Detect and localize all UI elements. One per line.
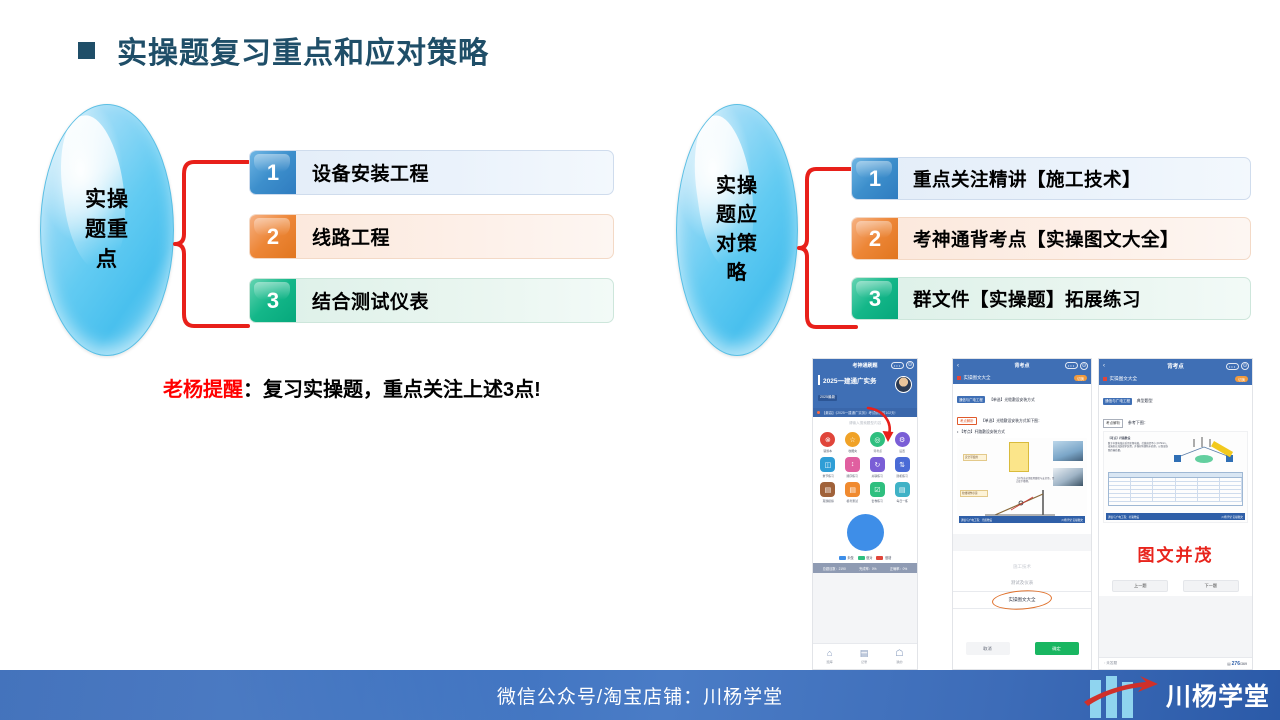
doc-title: 【考点】杆路敷设: [1108, 436, 1168, 440]
figure-note: 上杆作业必须使用脚扣与安全带，禁止徒手攀爬。: [1015, 476, 1057, 484]
chevron-left-icon[interactable]: ‹: [1103, 363, 1105, 369]
section-bar[interactable]: 实操图文大全 切换: [953, 372, 1091, 384]
course-banner: 2025一建通广实务 2025最新: [813, 371, 917, 408]
item-label: 重点关注精讲【施工技术】: [898, 166, 1141, 192]
legend-entry: 做对: [858, 555, 873, 560]
notice-dot-icon: [817, 411, 820, 414]
brand-name: 川杨学堂: [1166, 677, 1270, 713]
reminder-rest: ：复习实操题，重点关注上述3点!: [243, 379, 541, 401]
counter-current: 276: [1232, 661, 1240, 667]
figure-photo: [1053, 468, 1083, 486]
question-counter[interactable]: ▤ 276/369: [1227, 661, 1247, 667]
home-icon: ⌂: [827, 649, 832, 658]
red-square-icon: [1103, 377, 1107, 381]
legend-label: 做错: [885, 555, 891, 560]
avatar[interactable]: [895, 376, 912, 393]
tag-row-1: 通信与广电工程 典型题型: [1103, 389, 1248, 407]
legend-label: 未做: [847, 555, 853, 560]
picker-option[interactable]: 测试及仪表: [953, 575, 1091, 591]
tile-chapter-practice[interactable]: ◫ 章节练习: [817, 457, 839, 478]
yellow-table-graphic: [1009, 442, 1029, 472]
right-curly-brace-icon: [796, 165, 858, 331]
legend-swatch: [876, 556, 883, 560]
item-number-badge: 2: [852, 218, 898, 259]
more-icon[interactable]: •••: [1226, 363, 1239, 370]
switch-button[interactable]: 切换: [1074, 375, 1087, 381]
list-item[interactable]: 3 群文件【实操题】拓展练习: [851, 277, 1251, 320]
tag-row-2: 考点解析 【单选】光缆敷设安装方式如下图：: [957, 409, 1087, 427]
switch-button[interactable]: 切换: [1235, 376, 1248, 382]
question-line-2: 【单选】光缆敷设安装方式如下图：: [981, 419, 1042, 423]
tile-errors[interactable]: ⊗ 错题本: [817, 432, 839, 453]
picker-option[interactable]: 施工技术: [953, 559, 1091, 575]
section-title: 实操图文大全: [964, 375, 991, 381]
cancel-button[interactable]: 取消: [966, 642, 1010, 655]
item-number-badge: 1: [250, 151, 296, 194]
nav-item-question-bank[interactable]: ⌂ 题库: [827, 649, 833, 664]
tile-label: 收藏夹: [848, 448, 857, 453]
list-item[interactable]: 3 结合测试仪表: [249, 278, 614, 323]
legend-entry: 未做: [839, 555, 854, 560]
question-line-2: 参考下图：: [1128, 420, 1148, 425]
question-line-1: 典型题型: [1137, 398, 1153, 403]
course-badge: 2025最新: [818, 395, 837, 401]
phone-screenshot-memorize-picker: ‹ 背考点 ••• ⊙ 实操图文大全 切换 通信与广电工程 【单选】光缆敷设安装…: [952, 358, 1092, 670]
target-circle-icon[interactable]: ⊙: [1241, 362, 1249, 370]
confirm-button[interactable]: 确定: [1035, 642, 1079, 655]
more-icon[interactable]: •••: [1065, 362, 1078, 369]
app-header-title: 背考点: [1167, 362, 1184, 370]
analysis-tag: 考点解析: [957, 417, 977, 425]
next-question-button[interactable]: 下一题: [1183, 580, 1239, 592]
question-status-bar: ◦ 未答题 ▤ 276/369: [1099, 657, 1252, 669]
right-ellipse-shape: 实操题应对策略: [676, 104, 798, 356]
more-icon[interactable]: •••: [891, 362, 904, 369]
tile-grid: ⊗ 错题本 ☆ 收藏夹 ◎ 背考点 ⚙ 设置 ◫ 章节练习 ↕ 顺序练习: [813, 429, 917, 508]
reminder-text: 老杨提醒：复习实操题，重点关注上述3点!: [163, 373, 541, 402]
question-body: 通信与广电工程 【单选】光缆敷设安装方式 考点解析 【单选】光缆敷设安装方式如下…: [953, 384, 1091, 534]
page-title-text: 实操题复习重点和应对策略: [117, 28, 489, 72]
chevron-left-icon[interactable]: ‹: [957, 363, 959, 369]
user-icon: ☖: [895, 649, 903, 658]
page-title: 实操题复习重点和应对策略: [78, 28, 489, 72]
notice-bar[interactable]: 【最高】《2025一建通广实务》考试倒计时102天!: [813, 408, 917, 417]
check-icon: ☑: [870, 482, 885, 497]
nav-label: 我的: [896, 659, 902, 664]
footer-text: 微信公众号/淘宝店铺：川杨学堂: [497, 682, 783, 709]
category-tag: 通信与广电工程: [1103, 398, 1132, 405]
tile-label: 每日一练: [896, 498, 907, 503]
right-ellipse-label: 实操题应对策略: [691, 172, 782, 288]
updown-icon: ↕: [845, 457, 860, 472]
prev-question-button[interactable]: 上一题: [1112, 580, 1168, 592]
doc-text: 【考点】杆路敷设 数字中继电缆应采用全塑电缆，芯线直径不小于0.5mm，成端处应…: [1108, 436, 1168, 453]
item-label: 考神通背考点【实操图文大全】: [898, 226, 1179, 252]
item-label: 群文件【实操题】拓展练习: [898, 286, 1141, 312]
tile-favorites[interactable]: ☆ 收藏夹: [842, 432, 864, 453]
item-label: 线路工程: [296, 223, 390, 250]
caption-left: 通信与广电工程：光缆敷设: [961, 518, 992, 522]
tag-row-2: 考点解析 参考下图：: [1103, 411, 1248, 429]
bullet-line: • 【考点】杆路敷设安装方式: [957, 430, 1087, 435]
chuanyang-logo-icon: [1082, 672, 1160, 718]
picker-option-selected[interactable]: 实操图文大全: [953, 591, 1091, 609]
right-items-list: 1 重点关注精讲【施工技术】 2 考神通背考点【实操图文大全】 3 群文件【实操…: [851, 157, 1251, 320]
tile-label: 章节练习: [822, 473, 833, 478]
status-badge: ◦ 未答题: [1104, 661, 1117, 666]
app-header-title: 背考点: [1014, 362, 1029, 369]
section-bar[interactable]: 实操图文大全 切换: [1099, 373, 1252, 385]
list-item[interactable]: 2 线路工程: [249, 214, 614, 259]
nav-item-records[interactable]: ▤ 记录: [860, 649, 869, 664]
caption-left: 通信与广电工程：杆路敷设: [1108, 515, 1139, 519]
paper-icon: ▤: [820, 482, 835, 497]
search-input[interactable]: 请输入搜索题型内容: [813, 417, 917, 429]
tile-label: 套卷练习: [872, 498, 883, 503]
caption-right: 川杨学堂 实操图文: [1062, 518, 1083, 522]
tile-mock-test[interactable]: ▤ 模考测试: [842, 482, 864, 503]
header-capsule-controls[interactable]: ••• ⊙: [1226, 362, 1249, 370]
tile-label: 设置: [899, 448, 905, 453]
question-body: 通信与广电工程 典型题型 考点解析 参考下图： 【考点】杆路敷设 数字中继电缆应…: [1099, 385, 1252, 527]
doc-paragraph: 数字中继电缆应采用全塑电缆，芯线直径不小于0.5mm，成端处应加装保护装置，并做…: [1108, 442, 1168, 452]
tile-label: 关联练习: [872, 473, 883, 478]
tile-label: 模考测试: [847, 498, 858, 503]
book-icon: ◫: [820, 457, 835, 472]
picker-actions: 取消 确定: [953, 642, 1091, 655]
brand-logo: 川杨学堂: [1082, 672, 1270, 718]
question-line-1: 【单选】光缆敷设安装方式: [989, 398, 1035, 402]
cross-circle-icon: ⊗: [820, 432, 835, 447]
records-icon: ▤: [860, 649, 869, 658]
chart-legend: 未做 做对 做错: [839, 555, 892, 560]
category-tag: 通信与广电工程: [957, 396, 985, 403]
left-ellipse-shape: 实操题重点: [40, 104, 174, 356]
tile-memorize[interactable]: ◎ 背考点: [867, 432, 889, 453]
tile-label: 顺序练习: [847, 473, 858, 478]
header-capsule-controls[interactable]: ••• ⊙: [1065, 362, 1088, 370]
tile-random-practice[interactable]: ⇅ 随机练习: [891, 457, 913, 478]
tile-label: 真题模拟: [822, 498, 833, 503]
refresh-icon: ↻: [870, 457, 885, 472]
header-capsule-controls[interactable]: ••• ⊙: [891, 361, 914, 369]
tile-paper-practice[interactable]: ☑ 套卷练习: [867, 482, 889, 503]
legend-label: 做对: [866, 555, 872, 560]
app-header: ‹ 背考点 ••• ⊙: [1099, 359, 1252, 373]
nav-label: 题库: [827, 659, 833, 664]
tile-label: 背考点: [873, 448, 882, 453]
red-square-icon: [957, 376, 961, 380]
reminder-highlight: 老杨提醒: [163, 379, 243, 401]
figure-note: 安全带使用: [963, 454, 987, 461]
item-label: 结合测试仪表: [296, 287, 429, 314]
donut-slice: [847, 514, 884, 551]
option-picker-dialog: 施工技术 测试及仪表 实操图文大全 取消 确定: [953, 551, 1091, 669]
legend-swatch: [858, 556, 865, 560]
app-header: 考神通刷题 ••• ⊙: [813, 359, 917, 371]
phone-screenshot-memorize-detail: ‹ 背考点 ••• ⊙ 实操图文大全 切换 通信与广电工程 典型题型 考点解析 …: [1098, 358, 1253, 670]
square-bullet-icon: [78, 42, 95, 59]
notice-text: 【最高】《2025一建通广实务》考试倒计时102天!: [822, 410, 895, 415]
analysis-tag: 考点解析: [1103, 419, 1123, 427]
tile-daily-practice[interactable]: ▤ 每日一练: [891, 482, 913, 503]
target-icon: ◎: [870, 432, 885, 447]
stats-bar: 总题目数：2190 完成率：0% 正确率：0%: [813, 563, 917, 573]
counter-total: /369: [1240, 662, 1247, 666]
target-circle-icon[interactable]: ⊙: [906, 361, 914, 369]
pole-diagram-icon: [981, 488, 1059, 518]
app-header: ‹ 背考点 ••• ⊙: [953, 359, 1091, 372]
technical-figure: 安全带使用 上杆作业必须使用脚扣与安全带，禁止徒手攀爬。 拉线制作示意 通信与广…: [957, 438, 1087, 524]
orange-ellipse-annotation-icon: [991, 588, 1052, 611]
legend-entry: 做错: [876, 555, 891, 560]
bullet-line-text: 【考点】杆路敷设安装方式: [959, 430, 1005, 434]
list-item[interactable]: 1 设备安装工程: [249, 150, 614, 195]
tile-related-practice[interactable]: ↻ 关联练习: [867, 457, 889, 478]
tag-row-1: 通信与广电工程 【单选】光缆敷设安装方式: [957, 388, 1087, 406]
legend-swatch: [839, 556, 846, 560]
document-figure: 【考点】杆路敷设 数字中继电缆应采用全塑电缆，芯线直径不小于0.5mm，成端处应…: [1103, 431, 1248, 523]
figure-caption-bar: 通信与广电工程：光缆敷设 川杨学堂 实操图文: [959, 516, 1085, 523]
table-row: [1109, 498, 1242, 502]
shuffle-icon: ⇅: [895, 457, 910, 472]
app-header-title: 考神通刷题: [852, 362, 877, 369]
left-ellipse-label: 实操题重点: [57, 185, 157, 274]
left-items-list: 1 设备安装工程 2 线路工程 3 结合测试仪表: [249, 150, 614, 323]
phone-screenshot-app-home: 考神通刷题 ••• ⊙ 2025一建通广实务 2025最新 【最高】《2025一…: [812, 358, 918, 670]
stat-total: 总题目数：2190: [823, 566, 846, 571]
stat-accuracy: 正确率：0%: [890, 566, 907, 571]
tile-label: 随机练习: [896, 473, 907, 478]
item-number-badge: 3: [852, 278, 898, 319]
figure-caption-bar: 通信与广电工程：杆路敷设 川杨学堂 实操图文: [1106, 513, 1245, 520]
item-label: 设备安装工程: [296, 159, 429, 186]
nav-label: 记录: [861, 659, 867, 664]
network-diagram-icon: [1164, 435, 1244, 469]
tile-label: 错题本: [824, 448, 833, 453]
target-circle-icon[interactable]: ⊙: [1080, 362, 1088, 370]
caption-right: 川杨学堂 实操图文: [1222, 515, 1243, 519]
slide-root: 实操题复习重点和应对策略 实操题重点 1 设备安装工程 2 线路工程 3 结合测…: [0, 0, 1280, 720]
item-number-badge: 2: [250, 215, 296, 258]
section-title: 实操图文大全: [1110, 376, 1138, 382]
doc-icon: ▤: [845, 482, 860, 497]
gear-icon: ⚙: [895, 432, 910, 447]
figure-photo: [1053, 441, 1083, 461]
hero-text: 图文并茂: [1099, 527, 1252, 576]
left-curly-brace-icon: [172, 158, 250, 330]
progress-donut-chart: 未做 做对 做错: [813, 508, 917, 563]
list-icon: ▤: [895, 482, 910, 497]
footer-bar: 微信公众号/淘宝店铺：川杨学堂 川杨学堂: [0, 670, 1280, 720]
star-icon: ☆: [845, 432, 860, 447]
stat-completion: 完成率：0%: [859, 566, 876, 571]
item-number-badge: 1: [852, 158, 898, 199]
list-item[interactable]: 2 考神通背考点【实操图文大全】: [851, 217, 1251, 260]
tile-sequential-practice[interactable]: ↕ 顺序练习: [842, 457, 864, 478]
data-table: [1108, 472, 1243, 506]
tile-real-exam[interactable]: ▤ 真题模拟: [817, 482, 839, 503]
nav-item-profile[interactable]: ☖ 我的: [895, 649, 903, 664]
pagination-controls: 上一题 下一题: [1099, 576, 1252, 596]
tile-settings[interactable]: ⚙ 设置: [891, 432, 913, 453]
status-text: 未答题: [1106, 661, 1117, 665]
bottom-nav: ⌂ 题库 ▤ 记录 ☖ 我的: [813, 643, 917, 669]
item-number-badge: 3: [250, 279, 296, 322]
list-item[interactable]: 1 重点关注精讲【施工技术】: [851, 157, 1251, 200]
